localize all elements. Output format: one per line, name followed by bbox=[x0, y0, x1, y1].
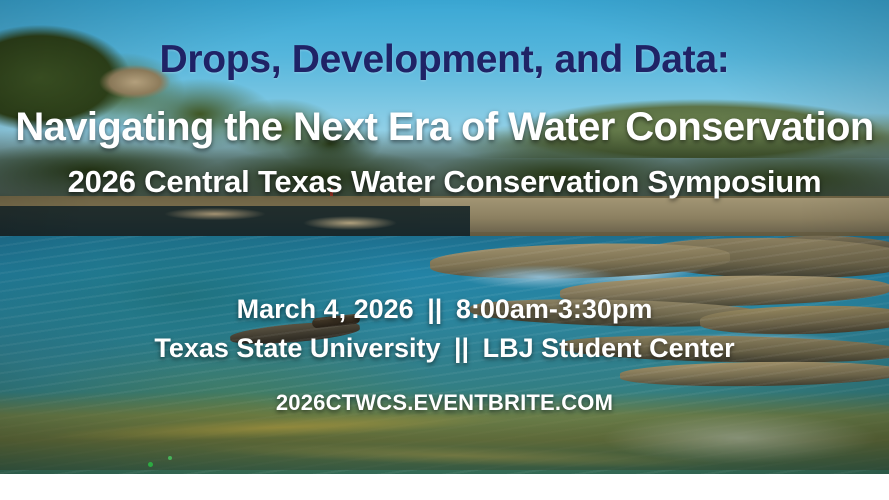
poster-subtitle: 2026 Central Texas Water Conservation Sy… bbox=[0, 164, 889, 200]
registration-url[interactable]: 2026CTWCS.EVENTBRITE.COM bbox=[0, 390, 889, 416]
poster-title-line-1: Drops, Development, and Data: bbox=[0, 38, 889, 82]
poster-text-overlay: Drops, Development, and Data: Navigating… bbox=[0, 0, 889, 474]
event-time: 8:00am-3:30pm bbox=[456, 294, 653, 324]
poster-title-line-2: Navigating the Next Era of Water Conserv… bbox=[0, 105, 889, 150]
datetime-separator: || bbox=[421, 294, 448, 325]
event-datetime-line: March 4, 2026 || 8:00am-3:30pm bbox=[0, 294, 889, 325]
event-institution: Texas State University bbox=[154, 333, 440, 363]
event-poster: Drops, Development, and Data: Navigating… bbox=[0, 0, 889, 500]
event-building: LBJ Student Center bbox=[483, 333, 735, 363]
event-date: March 4, 2026 bbox=[237, 294, 414, 324]
location-separator: || bbox=[448, 333, 475, 364]
event-location-line: Texas State University || LBJ Student Ce… bbox=[0, 333, 889, 364]
bottom-white-strip bbox=[0, 474, 889, 500]
